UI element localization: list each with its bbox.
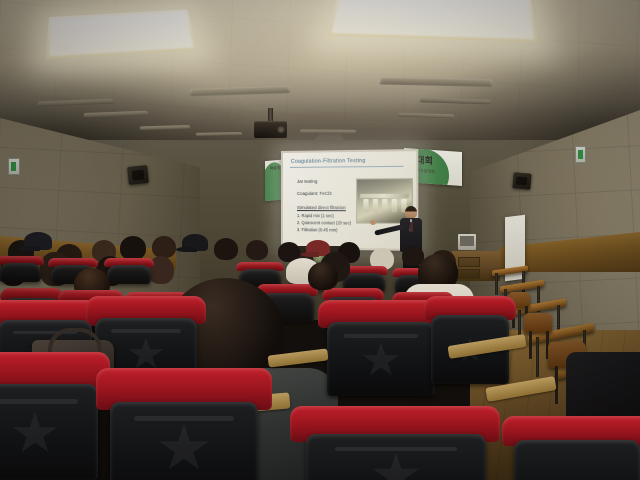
seat-back	[327, 322, 435, 396]
emergency-sign-left	[8, 158, 20, 175]
seat-star-emblem	[128, 337, 164, 371]
seat-back	[107, 265, 151, 284]
lecture-hall-photo: 술대회 한국수자원학회 학술발표회 Coagulation-Filtration…	[0, 0, 640, 480]
ceiling-lamp-right-on	[328, 0, 538, 42]
seat-ridge	[344, 334, 417, 338]
audience-cap	[182, 234, 208, 251]
slide-list-item: 2. Quiescent contact (20 sec)	[297, 220, 351, 225]
seat	[96, 368, 272, 480]
wall-speaker-right	[512, 172, 531, 190]
seat-ridge	[111, 329, 180, 333]
presenter-tie	[410, 222, 413, 232]
seat-back	[0, 263, 41, 282]
slide-photo-bar	[360, 194, 408, 198]
desk-leg	[536, 337, 539, 377]
wall-speaker-left	[127, 165, 149, 185]
stool-seat	[524, 313, 552, 333]
slide-list-item: 1. Rapid mix (1 sec)	[297, 213, 334, 218]
seat-ridge	[134, 416, 235, 421]
audience-cap	[24, 232, 52, 250]
seat-back	[110, 402, 258, 480]
seat-back	[0, 384, 98, 480]
slide-list-item: 3. Filtration (0.45 mm)	[297, 227, 338, 232]
audience-head	[214, 238, 238, 260]
seat	[0, 352, 110, 480]
seat	[104, 258, 154, 284]
seat	[0, 256, 44, 282]
audience-head	[246, 240, 268, 260]
audience-head	[152, 236, 176, 258]
presenter-hand	[370, 220, 376, 225]
desk-leg	[495, 273, 498, 295]
monitor	[458, 234, 476, 250]
audience-head	[120, 236, 146, 260]
stool-leg	[529, 331, 532, 359]
slide-title: Coagulation-Filtration Testing	[291, 158, 366, 165]
slide-photo-jar	[363, 199, 368, 212]
seat-back	[514, 440, 640, 480]
slide-line-1: Jar testing	[297, 179, 317, 184]
seat-star-emblem	[362, 342, 400, 378]
slide-photo-jar	[373, 199, 378, 212]
ceiling-projector	[254, 108, 288, 140]
slide-line-2: Coagulant: FeCl3	[297, 191, 332, 196]
seat	[502, 416, 640, 480]
seat-back	[306, 434, 486, 480]
slide-line-3: Simulated direct filtration	[297, 205, 346, 210]
seat	[290, 406, 500, 480]
slide-title-rule	[290, 166, 403, 168]
ceiling-lamp-off-9	[300, 129, 357, 133]
seat-star-emblem	[12, 412, 58, 456]
seat-star-emblem	[372, 453, 420, 480]
slide-photo-jar	[382, 199, 387, 212]
seat-star-emblem	[158, 424, 210, 474]
emergency-sign-right	[575, 146, 586, 163]
seat-ridge	[335, 447, 457, 451]
seat-ridge	[0, 399, 78, 404]
projector-lens	[277, 126, 285, 133]
